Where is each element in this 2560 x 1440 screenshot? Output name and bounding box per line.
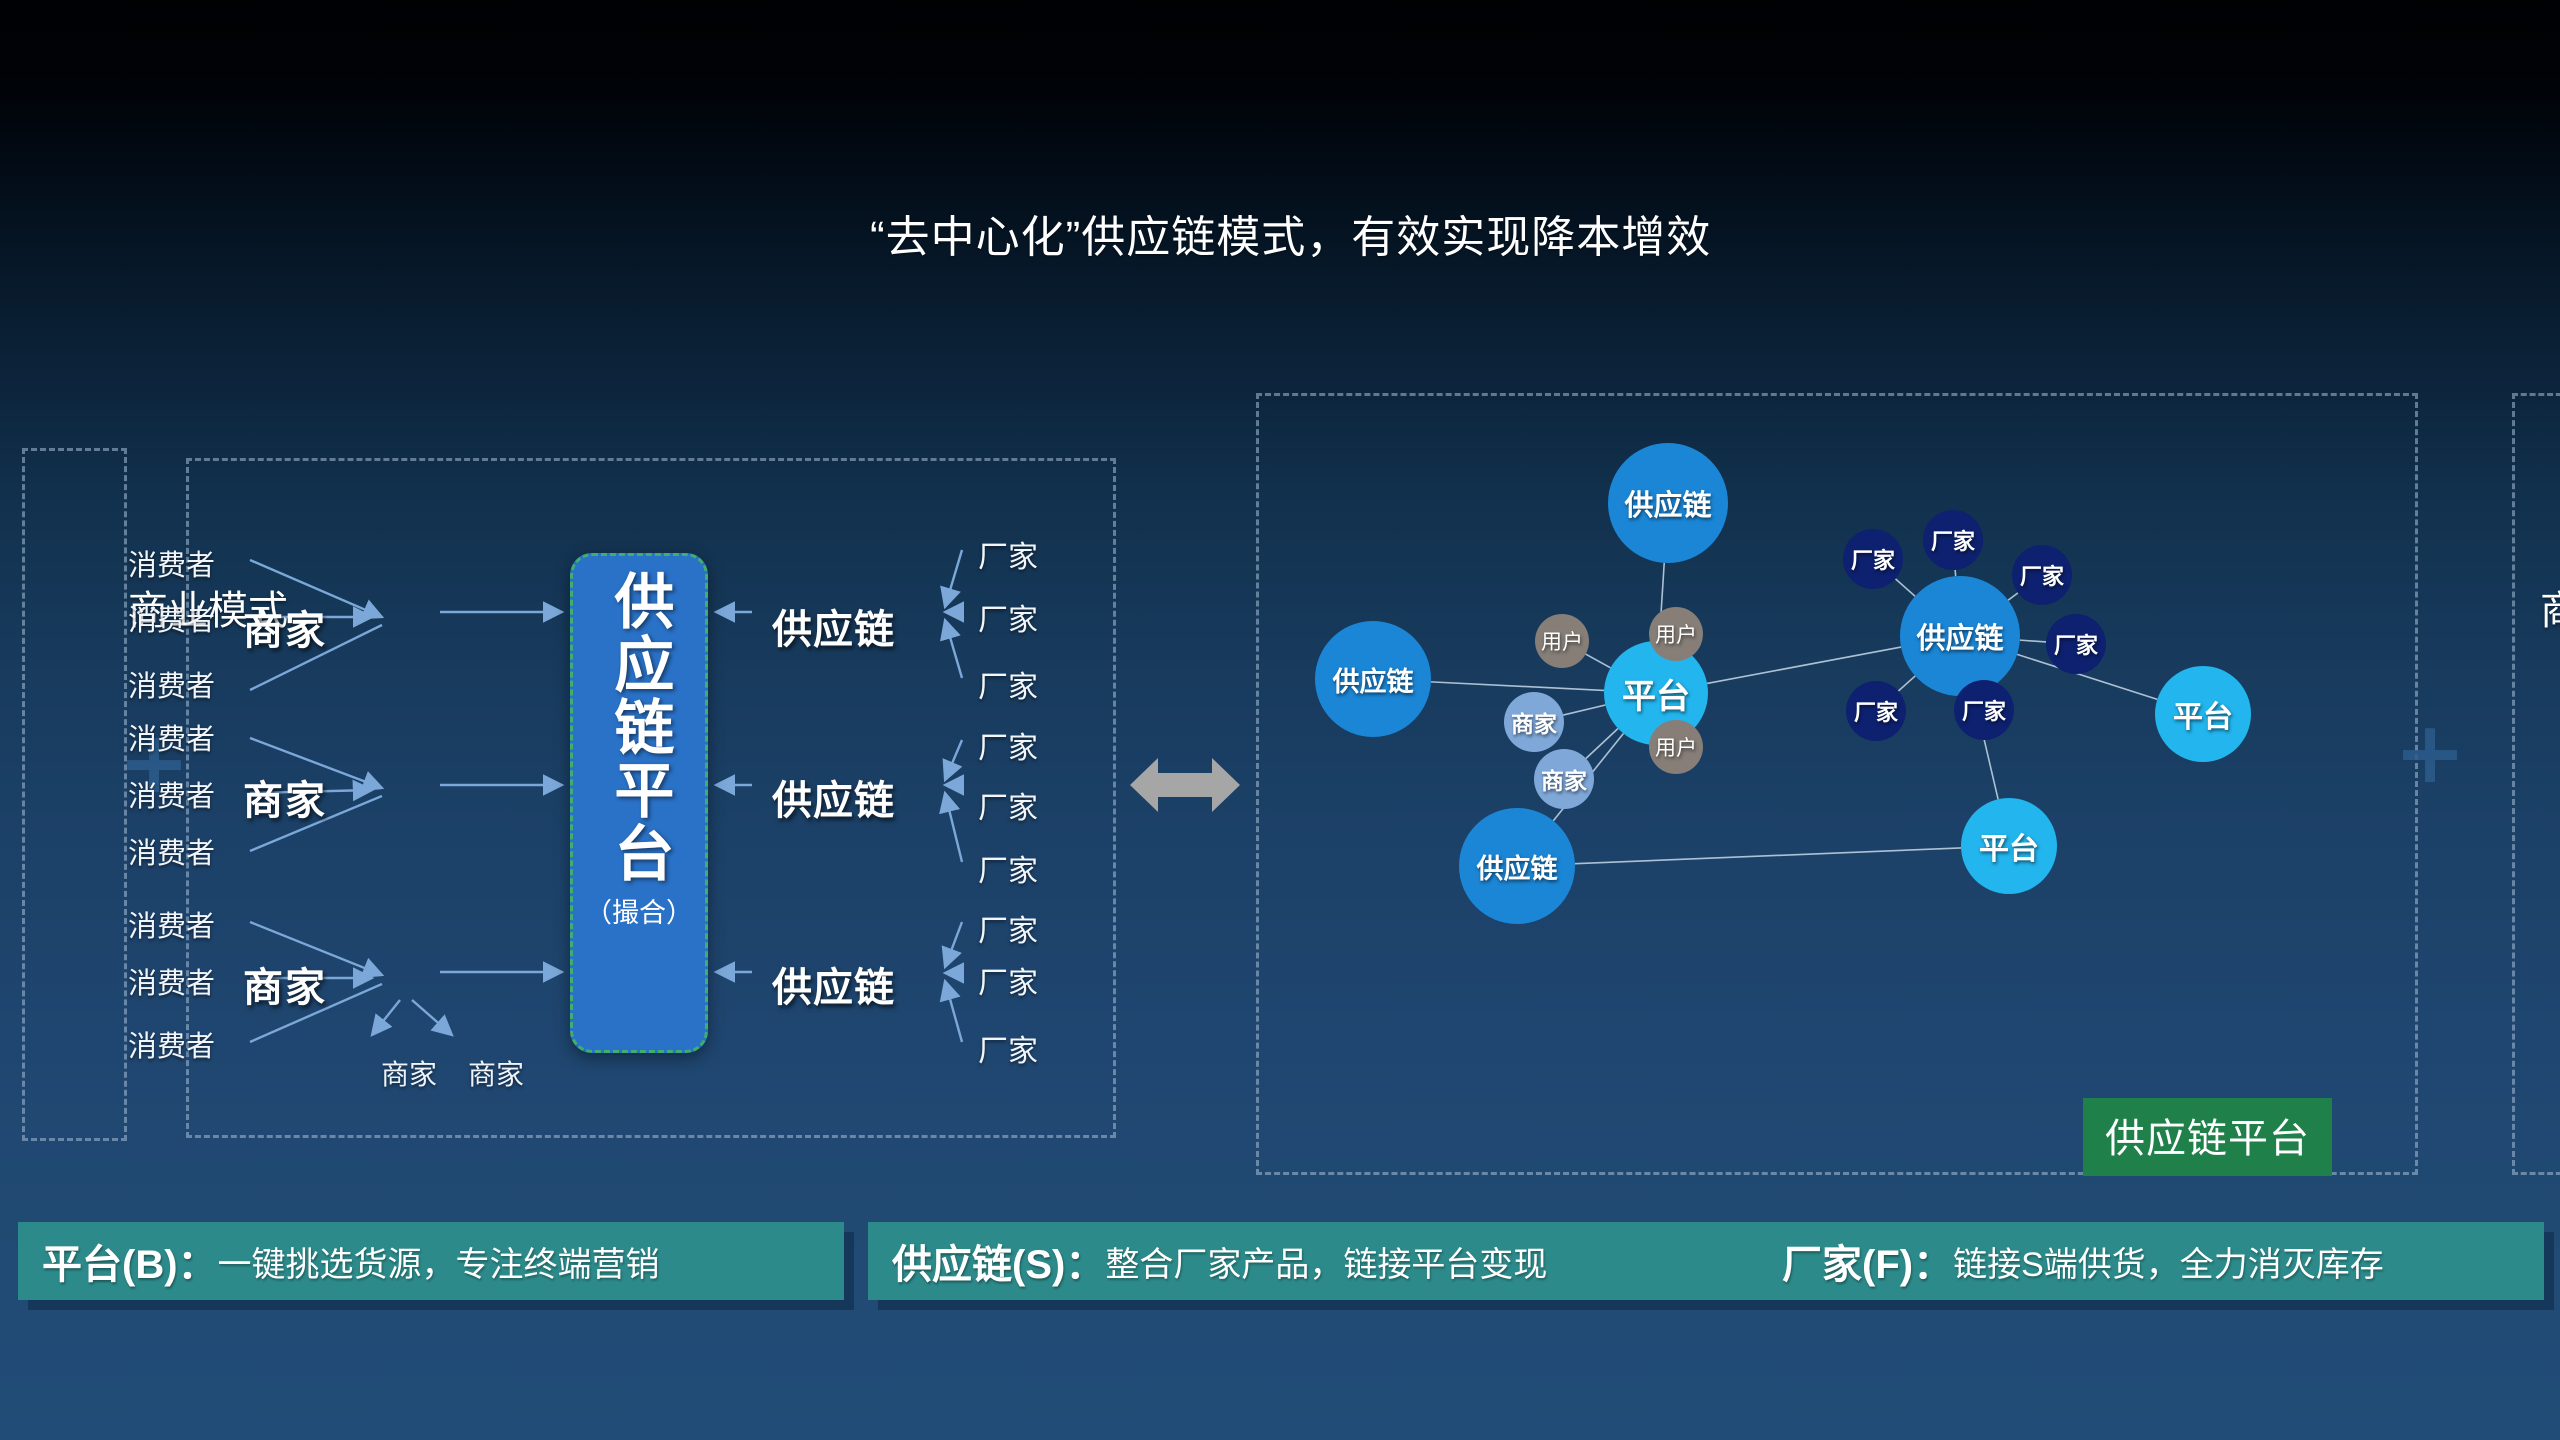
bottom-banner-row: 平台(B)： 一键挑选货源，专注终端营销 供应链(S)： 整合厂家产品，链接平台… — [0, 1222, 2560, 1310]
consumer-label: 消费者 — [128, 663, 215, 705]
banner-supply-chain-bold: 供应链(S)： — [892, 1232, 1105, 1290]
platform-box-subtitle: （撮合） — [585, 891, 693, 930]
network-node-factory[interactable]: 厂家 — [2012, 545, 2072, 605]
frame-far-left — [22, 448, 127, 1141]
merchant-label: 商家 — [243, 768, 327, 826]
network-edges — [1256, 393, 2418, 1175]
network-node-shop[interactable]: 商家 — [1534, 749, 1594, 809]
network-node-factory[interactable]: 厂家 — [1923, 510, 1983, 570]
consumer-label: 消费者 — [128, 773, 215, 815]
network-node-shop[interactable]: 商家 — [1504, 692, 1564, 752]
network-node-user[interactable]: 用户 — [1649, 607, 1703, 661]
network-node-chain[interactable]: 供应链 — [1608, 443, 1728, 563]
factory-label: 厂家 — [978, 958, 1038, 1002]
network-node-chain[interactable]: 供应链 — [1459, 808, 1575, 924]
banner-platform-bold: 平台(B)： — [42, 1232, 218, 1290]
banner-factory-text: 链接S端供货，全力消灭库存 — [1953, 1237, 2384, 1286]
banner-supply-chain-text: 整合厂家产品，链接平台变现 — [1105, 1237, 1547, 1286]
sub-merchant-label: 商家 — [381, 1053, 437, 1093]
network-node-user[interactable]: 用户 — [1649, 720, 1703, 774]
factory-label: 厂家 — [978, 906, 1038, 950]
network-node-chain[interactable]: 供应链 — [1315, 621, 1431, 737]
supply-chain-label: 供应链 — [772, 597, 895, 655]
supply-chain-label: 供应链 — [772, 768, 895, 826]
consumer-label: 消费者 — [128, 597, 215, 639]
factory-label: 厂家 — [978, 783, 1038, 827]
banner-supply-chain[interactable]: 供应链(S)： 整合厂家产品，链接平台变现 — [868, 1222, 1758, 1300]
banner-platform-text: 一键挑选货源，专注终端营销 — [218, 1237, 660, 1286]
factory-label: 厂家 — [978, 723, 1038, 767]
supply-chain-platform-badge: 供应链平台 — [2083, 1098, 2332, 1176]
network-node-factory[interactable]: 厂家 — [1843, 529, 1903, 589]
double-arrow-icon — [1130, 745, 1240, 825]
network-node-chain[interactable]: 供应链 — [1900, 576, 2020, 696]
factory-label: 厂家 — [978, 532, 1038, 576]
consumer-label: 消费者 — [128, 1023, 215, 1065]
network-node-platform[interactable]: 平台 — [2155, 666, 2251, 762]
network-node-factory[interactable]: 厂家 — [1846, 681, 1906, 741]
frame-far-right — [2512, 393, 2560, 1175]
network-node-factory[interactable]: 厂家 — [1954, 680, 2014, 740]
page-title: “去中心化”供应链模式，有效实现降本增效 — [870, 210, 1870, 266]
consumer-label: 消费者 — [128, 960, 215, 1002]
banner-platform[interactable]: 平台(B)： 一键挑选货源，专注终端营销 — [18, 1222, 844, 1300]
network-node-user[interactable]: 用户 — [1535, 614, 1589, 668]
banner-factory[interactable]: 厂家(F)： 链接S端供货，全力消灭库存 — [1758, 1222, 2544, 1300]
platform-box-title: 供应链平台 — [608, 570, 670, 885]
consumer-label: 消费者 — [128, 903, 215, 945]
factory-label: 厂家 — [978, 662, 1038, 706]
consumer-label: 消费者 — [128, 542, 215, 584]
network-node-platform[interactable]: 平台 — [1961, 798, 2057, 894]
supply-chain-label: 供应链 — [772, 955, 895, 1013]
factory-label: 厂家 — [978, 846, 1038, 890]
network-node-factory[interactable]: 厂家 — [2046, 614, 2106, 674]
decentralized-network-diagram: 供应链供应链供应链供应链平台平台平台用户用户用户商家商家厂家厂家厂家厂家厂家厂家 — [1256, 393, 2418, 1175]
supply-chain-platform-box[interactable]: 供应链平台 （撮合） — [570, 553, 708, 1053]
factory-label: 厂家 — [978, 595, 1038, 639]
banner-factory-bold: 厂家(F)： — [1782, 1232, 1953, 1290]
merchant-label: 商家 — [243, 598, 327, 656]
merchant-label: 商家 — [243, 955, 327, 1013]
consumer-label: 消费者 — [128, 830, 215, 872]
business-model-label-right: 商业模式 — [2540, 578, 2560, 636]
consumer-label: 消费者 — [128, 716, 215, 758]
sub-merchant-label: 商家 — [468, 1053, 524, 1093]
factory-label: 厂家 — [978, 1026, 1038, 1070]
